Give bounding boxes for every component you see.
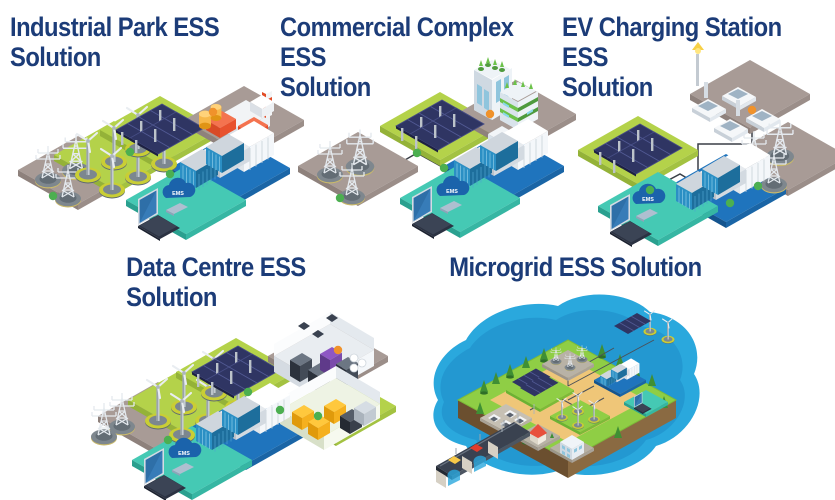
card-commercial-complex: Commercial Complex ESS Solution (272, 0, 557, 235)
illustration-commercial-complex (282, 48, 554, 233)
card-industrial-park: Industrial Park ESS Solution (0, 0, 280, 235)
card-ev-charging-station: EV Charging Station ESS Solution (556, 0, 835, 235)
card-title-microgrid: Microgrid ESS Solution (449, 252, 701, 282)
illustration-ev-charging-station (562, 48, 834, 233)
poster-canvas: Industrial Park ESS Solution (0, 0, 835, 500)
illustration-industrial-park: EMS (8, 48, 280, 233)
card-microgrid: Microgrid ESS Solution (410, 240, 835, 500)
card-data-centre: Data Centre ESS Solution (90, 240, 410, 500)
illustration-microgrid (418, 282, 718, 492)
illustration-data-centre (90, 288, 410, 488)
